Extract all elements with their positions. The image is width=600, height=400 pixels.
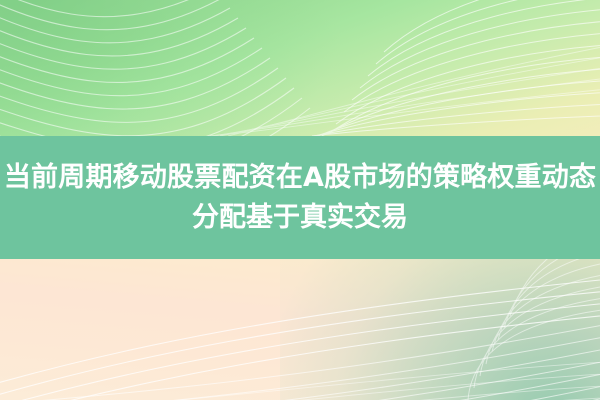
banner-image: 当前周期移动股票配资在A股市场的策略权重动态 分配基于真实交易 [0,0,600,400]
headline-band: 当前周期移动股票配资在A股市场的策略权重动态 分配基于真实交易 [0,136,600,259]
page-title-line-1: 当前周期移动股票配资在A股市场的策略权重动态 [4,158,596,198]
page-title-line-2: 分配基于真实交易 [4,198,596,238]
page-title: 当前周期移动股票配资在A股市场的策略权重动态 分配基于真实交易 [4,158,596,238]
